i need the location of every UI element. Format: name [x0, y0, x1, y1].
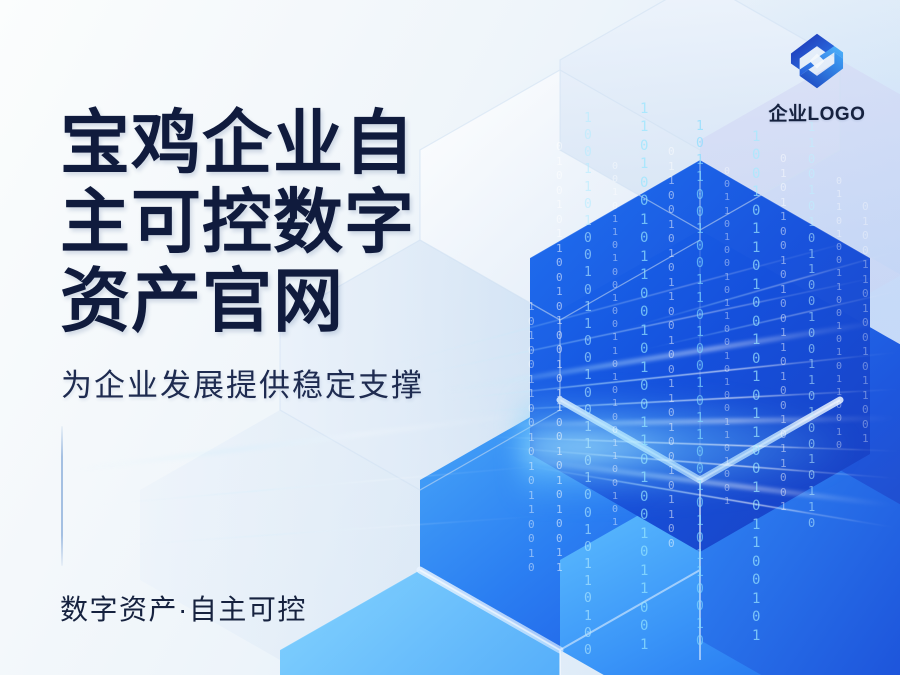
company-logo[interactable]: 企业LOGO: [758, 30, 876, 126]
page-title: 宝鸡企业自 主可控数字 资产官网: [60, 104, 490, 341]
hero-copy: 宝鸡企业自 主可控数字 资产官网 为企业发展提供稳定支撑 数字资产·自主可控: [0, 0, 520, 675]
interlocking-diamond-logo-icon: [786, 30, 848, 92]
logo-text: 企业LOGO: [758, 99, 876, 126]
hero-tagline: 数字资产·自主可控: [60, 588, 307, 628]
hero-banner: 010010110010100101100101010011 100110100…: [0, 0, 900, 675]
hero-subtitle: 为企业发展提供稳定支撑: [61, 360, 424, 405]
vertical-divider: [61, 426, 63, 566]
